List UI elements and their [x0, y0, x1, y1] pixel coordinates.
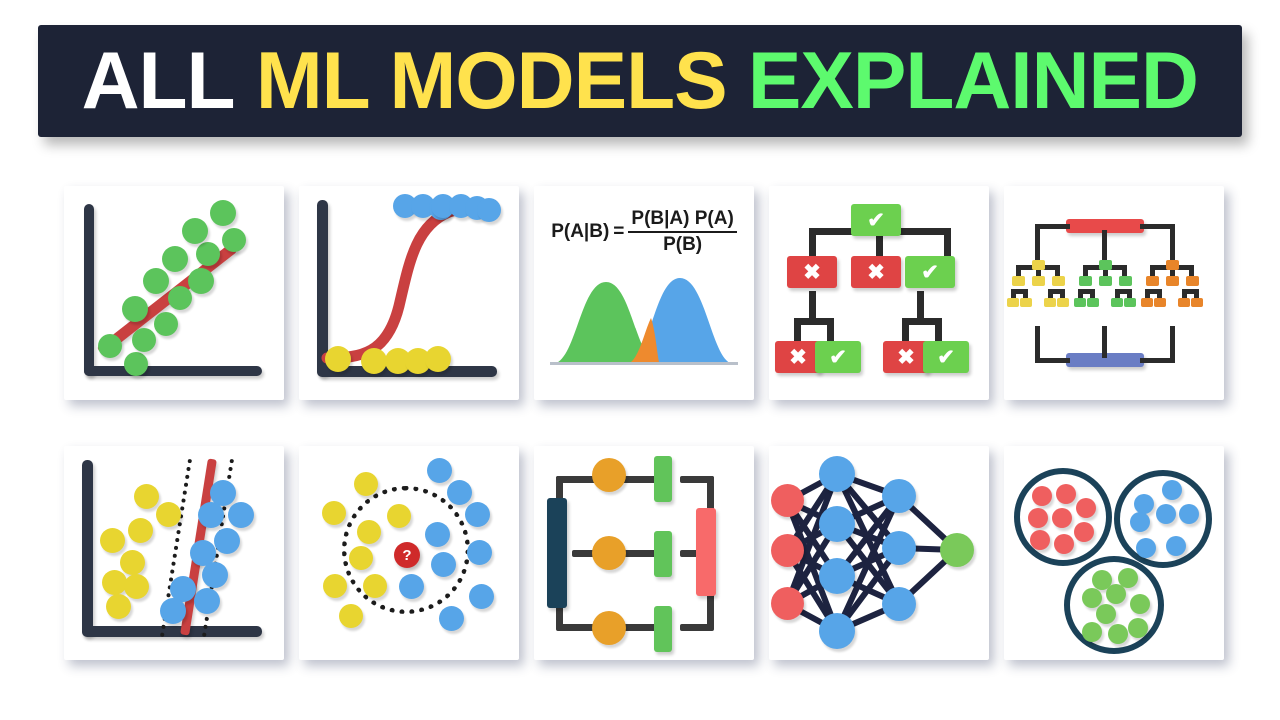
title-word-explained: EXPLAINED: [748, 36, 1198, 126]
data-point: [222, 228, 246, 252]
class-a-point: [357, 520, 381, 544]
class-a-point: [387, 504, 411, 528]
boost-connector: [556, 624, 596, 631]
hidden-node: [819, 613, 855, 649]
cluster-point: [1156, 504, 1176, 524]
cluster-point: [1028, 508, 1048, 528]
decision-tree-illustration: ✔ ✖ ✖ ✔ ✖ ✔ ✖ ✔: [769, 186, 989, 400]
boost-learner: [592, 536, 626, 570]
card-neural-network[interactable]: [769, 446, 989, 660]
class-a-point: [106, 594, 131, 619]
class-a-point: [323, 574, 347, 598]
boost-input-bar: [547, 498, 567, 608]
input-node: [771, 587, 804, 620]
neural-network-illustration: [769, 446, 989, 660]
hidden-node: [882, 479, 916, 513]
title-word-all: ALL: [82, 36, 235, 126]
class-low-point: [425, 346, 451, 372]
class-a-point: [124, 574, 149, 599]
naive-bayes-illustration: P(A|B) = P(B|A) P(A) P(B): [534, 186, 754, 400]
data-point: [168, 286, 192, 310]
boost-stage-bar: [654, 606, 672, 652]
clustering-illustration: [1004, 446, 1224, 660]
data-point: [162, 246, 188, 272]
cluster-point: [1106, 584, 1126, 604]
class-a-point: [134, 484, 159, 509]
bayes-theorem-formula: P(A|B) = P(B|A) P(A) P(B): [534, 208, 754, 256]
class-b-point: [467, 540, 492, 565]
tree-leaf-check: ✔: [815, 341, 861, 373]
cluster-point: [1136, 538, 1156, 558]
class-a-point: [100, 528, 125, 553]
title-word-ml-models: ML MODELS: [256, 36, 727, 126]
class-a-point: [120, 550, 145, 575]
forest-edge: [1170, 224, 1175, 260]
data-point: [132, 328, 156, 352]
formula-numerator: P(B|A) P(A): [628, 208, 736, 231]
class-a-point: [349, 546, 373, 570]
class-a-point: [339, 604, 363, 628]
class-b-point: [194, 588, 220, 614]
card-linear-regression[interactable]: [64, 186, 284, 400]
cluster-point: [1130, 512, 1150, 532]
hidden-node: [882, 531, 916, 565]
title-banner: ALL ML MODELS EXPLAINED: [38, 25, 1242, 137]
boost-learner: [592, 611, 626, 645]
formula-denominator: P(B): [628, 231, 736, 256]
cluster-point: [1162, 480, 1182, 500]
boost-connector: [707, 476, 714, 510]
data-point: [124, 352, 148, 376]
class-b-point: [160, 598, 186, 624]
class-a-point: [102, 570, 127, 595]
thumbnail-root: ALL ML MODELS EXPLAINED: [0, 0, 1280, 720]
tree-node-cross: ✖: [851, 256, 901, 288]
class-b-point: [439, 606, 464, 631]
data-point: [143, 268, 169, 294]
cluster-point: [1074, 522, 1094, 542]
formula-equals: =: [613, 221, 624, 243]
class-b-point: [427, 458, 452, 483]
tree-leaf-check: ✔: [923, 341, 969, 373]
cluster-point: [1030, 530, 1050, 550]
model-card-grid: P(A|B) = P(B|A) P(A) P(B): [64, 186, 1224, 660]
hidden-node: [819, 506, 855, 542]
formula-left-term: P(A|B): [551, 221, 609, 243]
data-point: [122, 296, 148, 322]
gaussian-distributions: [534, 260, 754, 380]
svm-illustration: [64, 446, 284, 660]
card-support-vector-machine[interactable]: [64, 446, 284, 660]
cluster-point: [1166, 536, 1186, 556]
class-b-point: [431, 552, 456, 577]
cluster-point: [1108, 624, 1128, 644]
class-b-point: [214, 528, 240, 554]
cluster-point: [1134, 494, 1154, 514]
data-point: [154, 312, 178, 336]
forest-edge: [1102, 230, 1107, 260]
boost-connector: [707, 594, 714, 628]
data-point: [210, 200, 236, 226]
cluster-point: [1179, 504, 1199, 524]
data-point: [196, 242, 220, 266]
tree-node-root-check: ✔: [851, 204, 901, 236]
boost-connector: [556, 476, 596, 483]
class-low-point: [325, 346, 351, 372]
logistic-regression-illustration: [299, 186, 519, 400]
y-axis: [82, 460, 93, 636]
boost-output-bar: [696, 508, 716, 596]
class-a-point: [354, 472, 378, 496]
cluster-point: [1128, 618, 1148, 638]
card-naive-bayes[interactable]: P(A|B) = P(B|A) P(A) P(B): [534, 186, 754, 400]
forest-edge: [1035, 224, 1040, 260]
card-logistic-regression[interactable]: [299, 186, 519, 400]
output-node: [940, 533, 974, 567]
card-k-means-clustering[interactable]: [1004, 446, 1224, 660]
card-decision-tree[interactable]: ✔ ✖ ✖ ✔ ✖ ✔ ✖ ✔: [769, 186, 989, 400]
card-boosting[interactable]: [534, 446, 754, 660]
card-k-nearest-neighbors[interactable]: ?: [299, 446, 519, 660]
class-b-point: [202, 562, 228, 588]
class-a-point: [156, 502, 181, 527]
x-axis: [84, 366, 262, 376]
x-axis: [82, 626, 262, 637]
class-high-point: [477, 198, 501, 222]
class-b-point: [228, 502, 254, 528]
hidden-node: [882, 587, 916, 621]
tree-node-cross: ✖: [787, 256, 837, 288]
cluster-point: [1052, 508, 1072, 528]
cluster-point: [1096, 604, 1116, 624]
class-a-point: [322, 501, 346, 525]
class-b-point: [399, 574, 424, 599]
class-b-point: [465, 502, 490, 527]
card-random-forest[interactable]: [1004, 186, 1224, 400]
cluster-point: [1032, 486, 1052, 506]
hidden-node: [819, 558, 855, 594]
input-node: [771, 484, 804, 517]
data-point: [188, 268, 214, 294]
class-b-point: [447, 480, 472, 505]
class-b-point: [425, 522, 450, 547]
linear-regression-illustration: [64, 186, 284, 400]
boosting-illustration: [534, 446, 754, 660]
boost-stage-bar: [654, 531, 672, 577]
y-axis: [84, 204, 94, 376]
forest-edge: [1035, 326, 1040, 362]
random-forest-illustration: [1004, 186, 1224, 400]
hidden-node: [819, 456, 855, 492]
cluster-point: [1082, 622, 1102, 642]
input-node: [771, 534, 804, 567]
forest-edge: [1170, 326, 1175, 362]
class-b-point: [469, 584, 494, 609]
cluster-point: [1054, 534, 1074, 554]
cluster-point: [1130, 594, 1150, 614]
boost-stage-bar: [654, 456, 672, 502]
knn-query-point: ?: [394, 542, 420, 568]
distribution-baseline: [550, 362, 738, 365]
tree-node-check: ✔: [905, 256, 955, 288]
data-point: [98, 334, 122, 358]
class-a-point: [363, 574, 387, 598]
class-a-point: [128, 518, 153, 543]
cluster-point: [1056, 484, 1076, 504]
forest-edge: [1035, 224, 1070, 229]
banner-title: ALL ML MODELS EXPLAINED: [82, 41, 1198, 122]
boost-learner: [592, 458, 626, 492]
class-b-point: [198, 502, 224, 528]
data-point: [182, 218, 208, 244]
cluster-point: [1076, 498, 1096, 518]
knn-illustration: ?: [299, 446, 519, 660]
forest-edge: [1035, 358, 1070, 363]
forest-edge: [1102, 326, 1107, 358]
class-low-point: [361, 348, 387, 374]
